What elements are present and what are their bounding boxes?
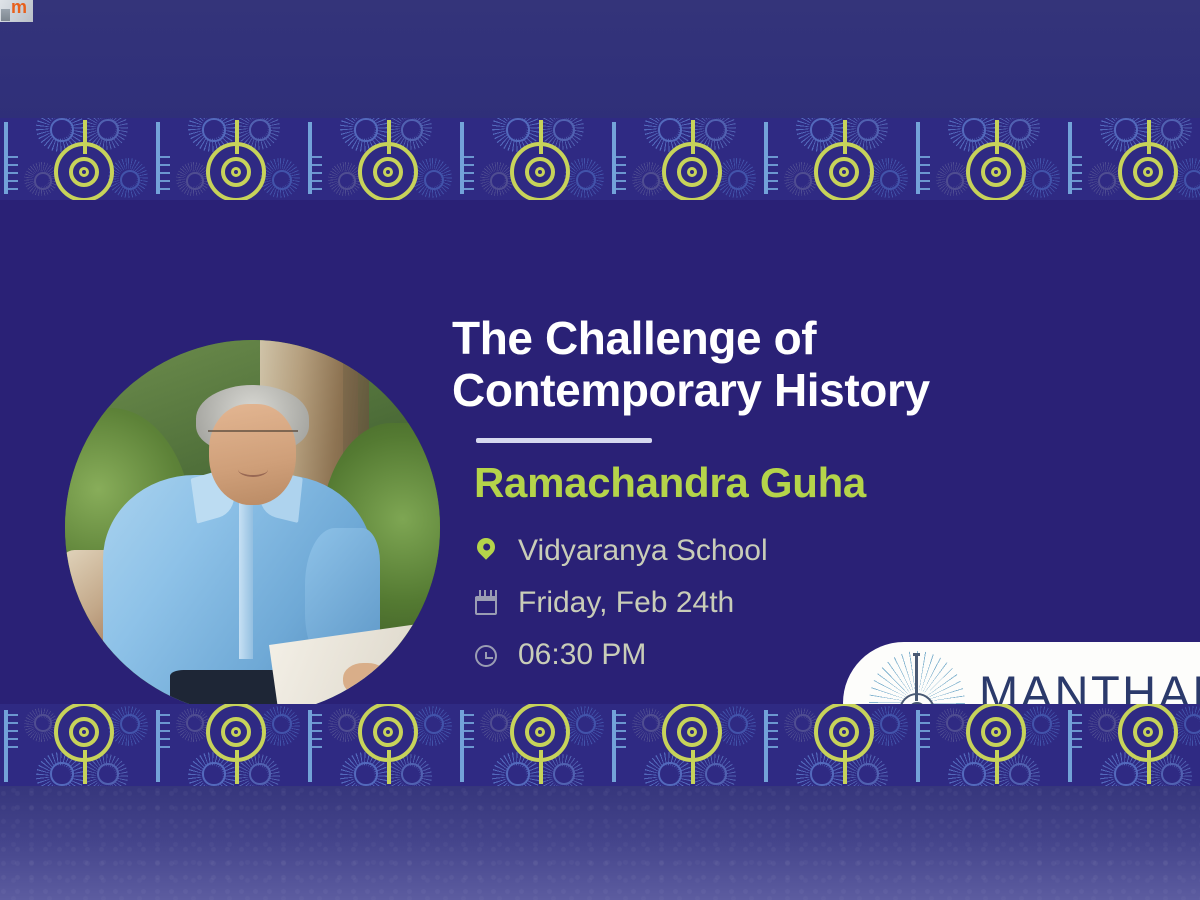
clipped-favicon-fragment: m <box>0 0 33 22</box>
pattern-sunburst-flower <box>480 162 514 196</box>
pattern-concentric-lollipop <box>662 120 724 198</box>
photo-hand <box>343 663 388 697</box>
pattern-motif-unit <box>446 118 598 200</box>
pattern-sunburst-flower <box>936 162 970 196</box>
pattern-concentric-lollipop <box>206 120 268 198</box>
pattern-concentric-lollipop <box>1118 120 1180 198</box>
pattern-sunburst-flower <box>632 162 666 196</box>
pattern-concentric-lollipop <box>54 120 116 198</box>
pattern-concentric-lollipop <box>814 706 876 784</box>
pattern-comb-line <box>916 122 920 194</box>
pattern-comb-line <box>460 710 464 782</box>
pattern-sunburst-flower <box>784 162 818 196</box>
event-title: The Challenge of Contemporary History <box>452 312 992 416</box>
pattern-sunburst-flower <box>24 162 58 196</box>
pattern-motif-unit <box>142 704 294 786</box>
pattern-concentric-lollipop <box>206 706 268 784</box>
pattern-motif-unit <box>0 704 142 786</box>
pattern-comb-line <box>4 710 8 782</box>
pattern-motif-unit <box>446 704 598 786</box>
poster-content: The Challenge of Contemporary History Ra… <box>0 200 1200 704</box>
detail-venue: Vidyaranya School <box>472 525 992 577</box>
letterbox-top <box>0 0 1200 120</box>
letterbox-bottom <box>0 785 1200 900</box>
pattern-concentric-lollipop <box>966 706 1028 784</box>
pattern-comb-line <box>308 122 312 194</box>
pattern-concentric-lollipop <box>966 120 1028 198</box>
pattern-motif-unit <box>598 118 750 200</box>
pattern-sunburst-flower <box>176 162 210 196</box>
pattern-comb-line <box>916 710 920 782</box>
detail-venue-text: Vidyaranya School <box>518 534 768 568</box>
pattern-comb-line <box>764 710 768 782</box>
pattern-motif-unit <box>1054 118 1200 200</box>
poster-text-column: The Challenge of Contemporary History Ra… <box>452 312 992 681</box>
title-divider <box>476 438 652 443</box>
pattern-sunburst-flower <box>480 708 514 742</box>
pattern-motif-unit <box>902 704 1054 786</box>
pattern-concentric-lollipop <box>662 706 724 784</box>
location-pin-icon <box>472 536 500 566</box>
pattern-sunburst-flower <box>176 708 210 742</box>
detail-date-text: Friday, Feb 24th <box>518 586 734 620</box>
photo-face <box>209 404 295 505</box>
pattern-motif-unit <box>142 118 294 200</box>
event-poster: The Challenge of Contemporary History Ra… <box>0 118 1200 786</box>
photo-shirt-placket <box>239 501 252 659</box>
detail-time-text: 06:30 PM <box>518 638 646 672</box>
detail-date: Friday, Feb 24th <box>472 577 992 629</box>
photo-eyeglasses <box>208 430 298 443</box>
pattern-motif-unit <box>750 704 902 786</box>
pattern-concentric-lollipop <box>54 706 116 784</box>
pattern-concentric-lollipop <box>358 706 420 784</box>
pattern-concentric-lollipop <box>510 706 572 784</box>
decorative-pattern-band-top <box>0 118 1200 200</box>
pattern-comb-line <box>4 122 8 194</box>
pattern-comb-line <box>612 710 616 782</box>
pattern-sunburst-flower <box>328 708 362 742</box>
clock-icon <box>472 640 500 670</box>
pattern-motif-unit <box>598 704 750 786</box>
favicon-glyph: m <box>11 0 27 16</box>
pattern-motif-unit <box>902 118 1054 200</box>
pattern-motif-unit <box>0 118 142 200</box>
pattern-concentric-lollipop <box>358 120 420 198</box>
pattern-sunburst-flower <box>632 708 666 742</box>
pattern-comb-line <box>1068 122 1072 194</box>
decorative-pattern-band-bottom <box>0 704 1200 786</box>
pattern-concentric-lollipop <box>510 120 572 198</box>
favicon-bar <box>1 9 10 21</box>
pattern-comb-line <box>764 122 768 194</box>
pattern-comb-line <box>460 122 464 194</box>
screenshot-stage: The Challenge of Contemporary History Ra… <box>0 0 1200 900</box>
pattern-comb-line <box>308 710 312 782</box>
pattern-sunburst-flower <box>328 162 362 196</box>
pattern-comb-line <box>156 122 160 194</box>
pattern-sunburst-flower <box>24 708 58 742</box>
calendar-icon <box>472 588 500 618</box>
pattern-comb-line <box>156 710 160 782</box>
pattern-concentric-lollipop <box>814 120 876 198</box>
pattern-sunburst-flower <box>1088 162 1122 196</box>
pattern-motif-unit <box>294 118 446 200</box>
pattern-sunburst-flower <box>936 708 970 742</box>
pattern-motif-unit <box>1054 704 1200 786</box>
pattern-concentric-lollipop <box>1118 706 1180 784</box>
pattern-motif-unit <box>750 118 902 200</box>
pattern-comb-line <box>612 122 616 194</box>
pattern-sunburst-flower <box>1088 708 1122 742</box>
speaker-name: Ramachandra Guha <box>474 459 992 507</box>
pattern-comb-line <box>1068 710 1072 782</box>
photo-smile <box>238 462 268 477</box>
pattern-sunburst-flower <box>784 708 818 742</box>
pattern-motif-unit <box>294 704 446 786</box>
circular-portrait-photo <box>65 340 440 715</box>
